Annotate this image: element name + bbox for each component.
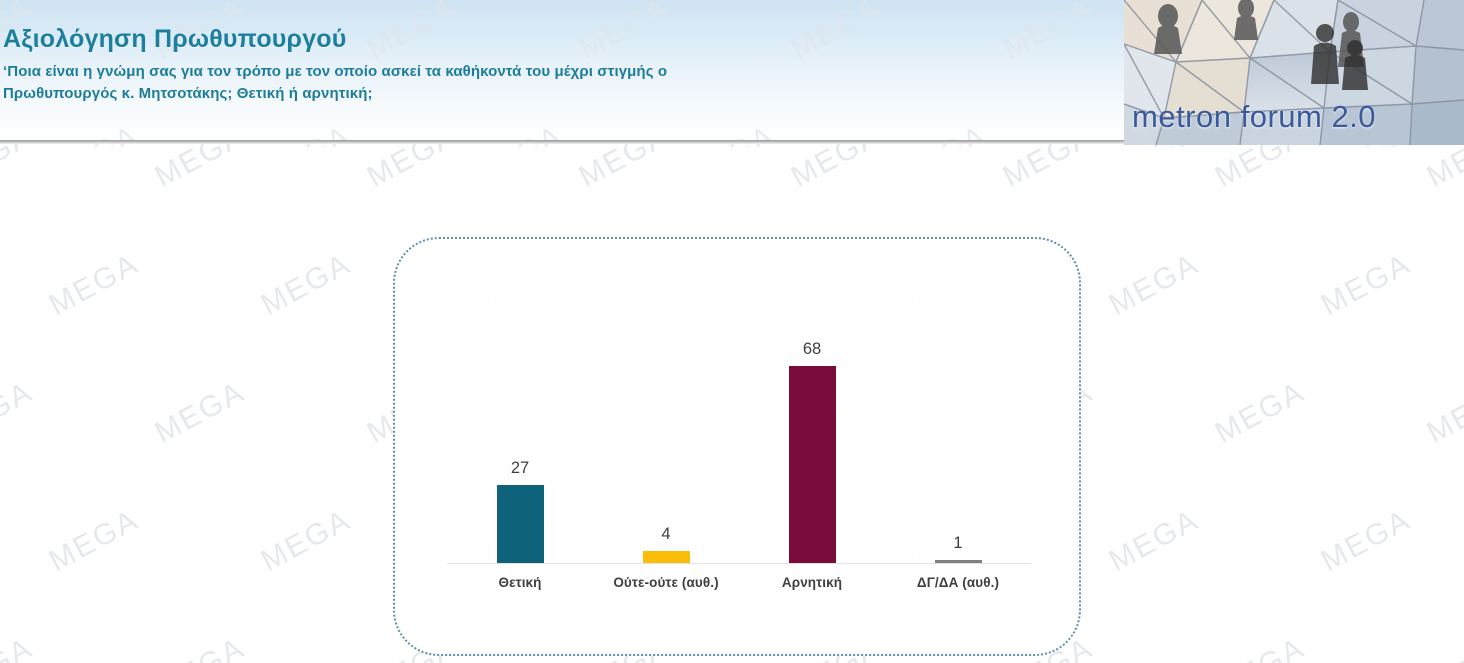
bar-rect[interactable] [789,366,836,563]
category-label: ΔΓ/ΔΑ (αυθ.) [885,575,1031,590]
watermark-text: MEGA [150,375,251,450]
bar-slot[interactable]: 68 [739,271,885,563]
watermark-text: MEGA [1210,631,1311,663]
bar-slot[interactable]: 4 [593,271,739,563]
watermark-text: MEGA [1104,503,1205,578]
watermark-text: MEGA [0,631,39,663]
bar-value-label: 4 [661,526,670,543]
watermark-text: MEGA [1316,247,1417,322]
bars-row: 274681 [447,271,1031,563]
bar-rect[interactable] [497,485,544,563]
watermark-text: MEGA [1210,375,1311,450]
bar-slot[interactable]: 27 [447,271,593,563]
page-subtitle-line-1: ‘Ποια είναι η γνώμη σας για τον τρόπο με… [3,61,1063,84]
watermark-text: MEGA [1104,247,1205,322]
category-label: Ούτε-ούτε (αυθ.) [593,575,739,590]
page-subtitle-line-2: Πρωθυπουργός κ. Μητσοτάκης; Θετική ή αρν… [3,83,1063,106]
category-label: Θετική [447,575,593,590]
category-axis-line [447,563,1031,565]
bar-value-label: 68 [803,341,821,358]
page-subtitle: ‘Ποια είναι η γνώμη σας για τον τρόπο με… [3,61,1063,107]
bar-value-label: 27 [511,460,529,477]
watermark-text: MEGA [256,503,357,578]
page-title: Αξιολόγηση Πρωθυπουργού [3,26,1063,54]
metron-forum-logo: metron forum 2.0 [1124,0,1464,145]
bar-rect[interactable] [643,551,690,563]
watermark-text: MEGA [1422,375,1464,450]
watermark-text: MEGA [1316,503,1417,578]
category-label: Αρνητική [739,575,885,590]
chart-plot-area: 274681 ΘετικήΟύτε-ούτε (αυθ.)ΑρνητικήΔΓ/… [447,267,1031,599]
title-block: Αξιολόγηση Πρωθυπουργού ‘Ποια είναι η γν… [3,26,1063,106]
watermark-text: MEGA [150,631,251,663]
watermark-text: MEGA [44,503,145,578]
category-labels-row: ΘετικήΟύτε-ούτε (αυθ.)ΑρνητικήΔΓ/ΔΑ (αυθ… [447,567,1031,597]
watermark-text: MEGA [0,375,39,450]
watermark-text: MEGA [44,247,145,322]
logo-text: metron forum 2.0 [1132,99,1462,135]
chart-card: 274681 ΘετικήΟύτε-ούτε (αυθ.)ΑρνητικήΔΓ/… [393,237,1081,656]
bar-slot[interactable]: 1 [885,271,1031,563]
watermark-text: MEGA [1422,631,1464,663]
bar-value-label: 1 [953,535,962,552]
watermark-text: MEGA [256,247,357,322]
